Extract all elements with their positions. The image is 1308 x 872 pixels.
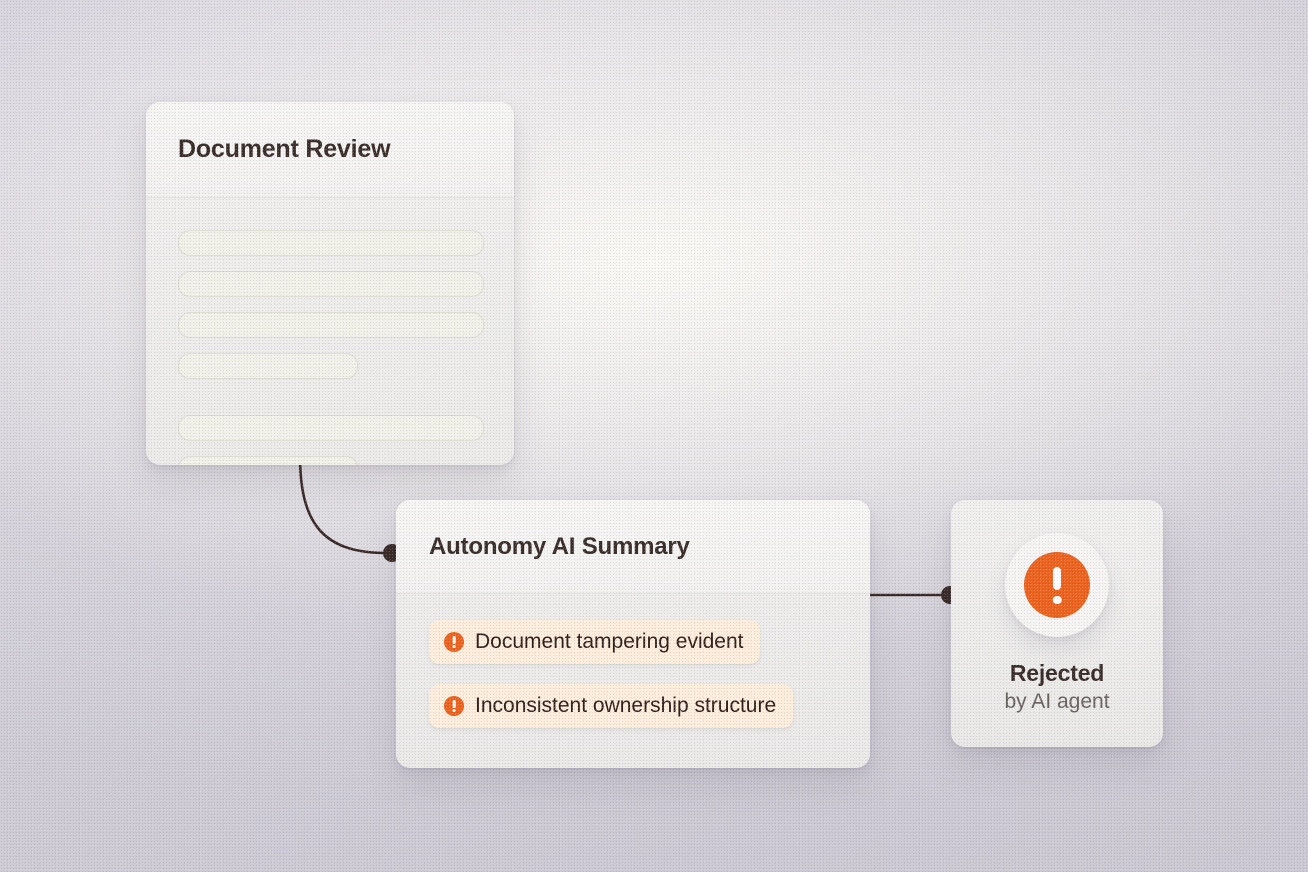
skeleton-line bbox=[178, 456, 358, 465]
alert-circle-icon bbox=[444, 696, 464, 716]
status-badge bbox=[1005, 533, 1109, 637]
skeleton-spacer bbox=[178, 379, 482, 415]
skeleton-line bbox=[178, 415, 484, 441]
skeleton-group-1 bbox=[178, 230, 482, 379]
document-review-card[interactable]: Document Review bbox=[146, 102, 514, 465]
alert-chip-inconsistent-ownership[interactable]: Inconsistent ownership structure bbox=[429, 684, 793, 728]
status-title: Rejected bbox=[1010, 660, 1104, 687]
skeleton-line bbox=[178, 312, 484, 338]
document-review-card-header: Document Review bbox=[146, 102, 514, 198]
alert-circle-icon bbox=[1024, 552, 1090, 618]
diagram-canvas: Document Review Autonomy AI Summary bbox=[0, 0, 1308, 872]
connector-document-to-summary bbox=[300, 455, 386, 553]
document-review-title: Document Review bbox=[178, 135, 390, 164]
status-card-rejected[interactable]: Rejected by AI agent bbox=[951, 500, 1163, 747]
skeleton-line bbox=[178, 271, 484, 297]
autonomy-ai-summary-card[interactable]: Autonomy AI Summary Document tampering e… bbox=[396, 500, 870, 768]
alert-chip-label: Document tampering evident bbox=[475, 630, 743, 654]
autonomy-ai-summary-card-header: Autonomy AI Summary bbox=[396, 500, 870, 594]
alert-circle-icon bbox=[444, 632, 464, 652]
autonomy-ai-summary-title: Autonomy AI Summary bbox=[429, 533, 690, 561]
skeleton-line bbox=[178, 353, 358, 379]
alert-chip-document-tampering[interactable]: Document tampering evident bbox=[429, 620, 760, 664]
document-review-card-body bbox=[146, 198, 514, 465]
status-subtitle: by AI agent bbox=[1004, 690, 1109, 714]
skeleton-line bbox=[178, 230, 484, 256]
skeleton-group-2 bbox=[178, 415, 482, 465]
autonomy-ai-summary-card-body: Document tampering evident Inconsistent … bbox=[396, 594, 870, 728]
alert-chip-label: Inconsistent ownership structure bbox=[475, 694, 776, 718]
